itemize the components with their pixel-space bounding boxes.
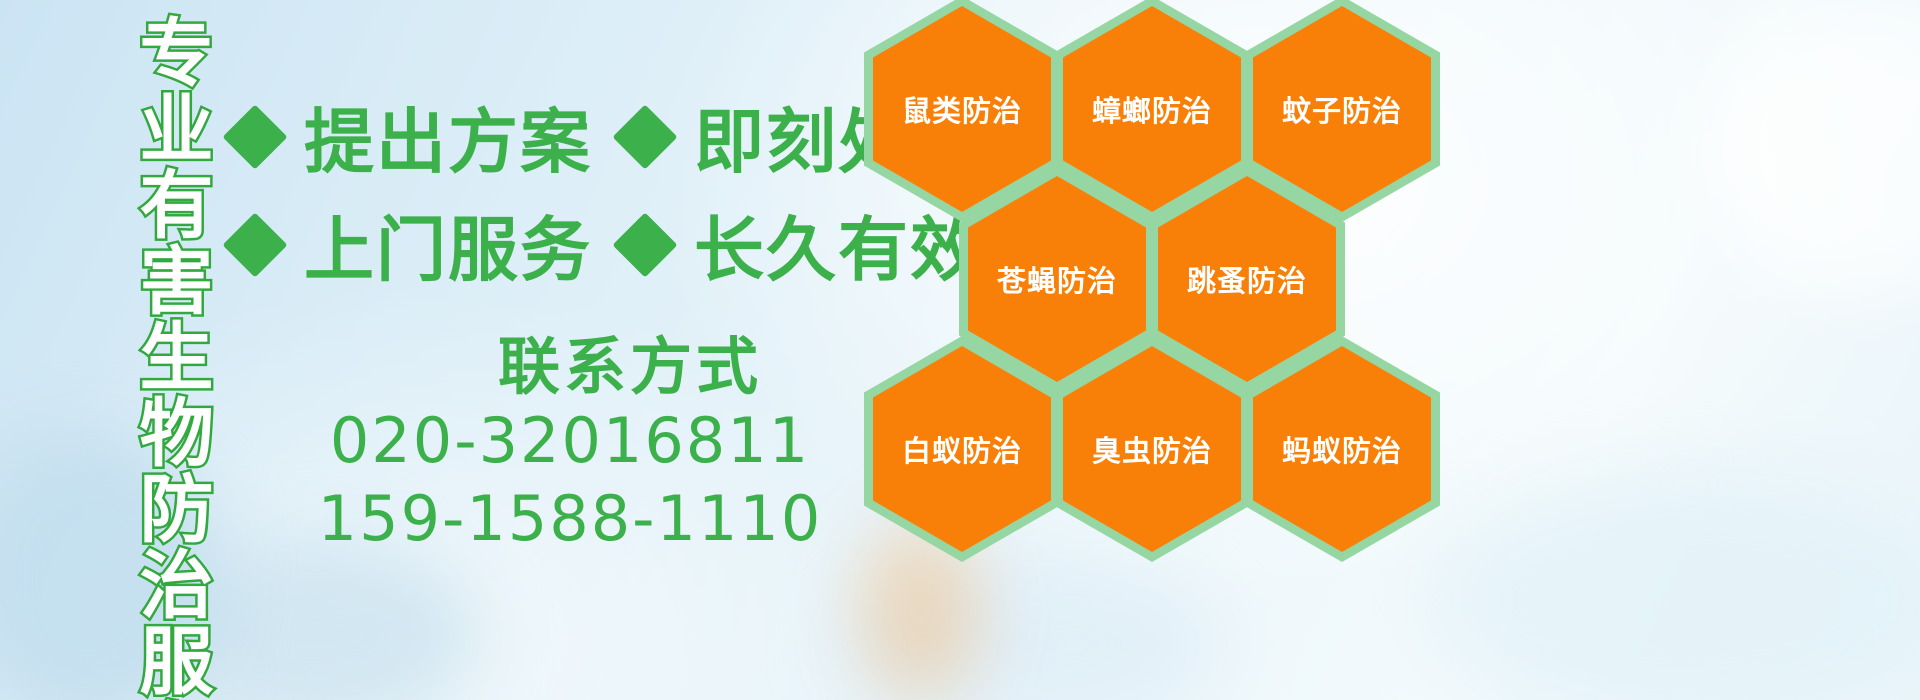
contact-heading: 联系方式 [420,316,840,406]
feature-label: 提出方案 [304,86,592,187]
hex-label: 蟑螂防治 [1092,88,1212,130]
phone-mobile[interactable]: 159-1588-1110 [300,482,840,555]
diamond-bullet-icon [612,104,677,169]
background-blob [1700,0,1920,300]
service-honeycomb: 鼠类防治 蟑螂防治 蚊子防治 苍蝇防治 跳蚤防治 白蚁防治 臭虫防治 蚂蚁防治 [860,0,1460,548]
diamond-bullet-icon [222,212,287,277]
background-blob [840,560,1220,700]
hex-label: 臭虫防治 [1092,428,1212,470]
hex-label: 白蚁防治 [902,428,1022,470]
hex-label: 蚊子防治 [1282,88,1402,130]
feature-label: 上门服务 [304,194,592,295]
diamond-bullet-icon [222,104,287,169]
hex-label: 鼠类防治 [902,88,1022,130]
background-blob [1430,470,1920,700]
vertical-title: 专业有害生物防治服务 [104,14,208,554]
hex-label: 蚂蚁防治 [1282,428,1402,470]
hex-label: 苍蝇防治 [997,258,1117,300]
banner-canvas: 专业有害生物防治服务 提出方案 即刻处理 上门服务 长久有效 联系方式 020-… [0,0,1920,700]
feature-item-propose-plan: 提出方案 [232,86,592,187]
feature-item-onsite-service: 上门服务 [232,194,592,295]
phone-landline[interactable]: 020-32016811 [300,404,840,477]
diamond-bullet-icon [612,212,677,277]
hex-label: 跳蚤防治 [1187,258,1307,300]
